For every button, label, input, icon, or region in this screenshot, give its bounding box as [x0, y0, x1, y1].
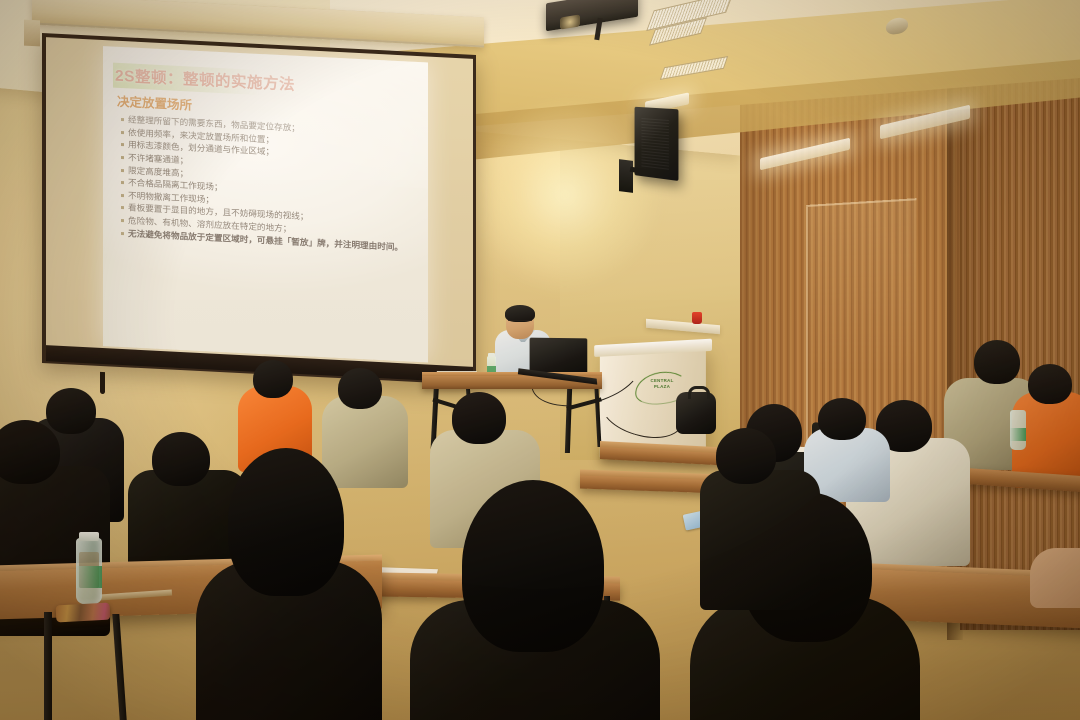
- speaker-grille-icon: [641, 117, 668, 170]
- attendee-head: [818, 398, 866, 440]
- attendee-head: [152, 432, 210, 486]
- attendee-head: [46, 388, 96, 434]
- bullet-dot-icon: [121, 156, 124, 159]
- bullet-dot-icon: [121, 131, 124, 134]
- projected-slide: 2S整顿：整顿的实施方法 决定放置场所 经整理所留下的需要东西，物品要定位存放；…: [103, 46, 428, 362]
- attendee-hair: [462, 480, 604, 652]
- bullet-dot-icon: [121, 118, 124, 121]
- bottle-label: [76, 566, 102, 588]
- bullet-dot-icon: [121, 181, 124, 184]
- attendee-torso: [322, 396, 408, 488]
- podium-logo-line-2: PLAZA: [641, 384, 684, 390]
- desk-leg: [44, 612, 52, 720]
- bullet-dot-icon: [121, 232, 124, 235]
- screen-pull-hook[interactable]: [100, 372, 105, 394]
- slide-content: 2S整顿：整顿的实施方法 决定放置场所 经整理所留下的需要东西，物品要定位存放；…: [103, 46, 428, 362]
- bottle-cap: [488, 353, 495, 357]
- bottle-label: [1010, 428, 1026, 441]
- red-object: [692, 312, 702, 324]
- attendee-head: [338, 368, 382, 409]
- attendee-head: [253, 360, 293, 398]
- classroom-photo: 2S整顿：整顿的实施方法 决定放置场所 经整理所留下的需要东西，物品要定位存放；…: [0, 0, 1080, 720]
- bullet-dot-icon: [121, 194, 124, 197]
- bullet-dot-icon: [121, 219, 124, 222]
- bullet-dot-icon: [121, 169, 124, 172]
- screen-housing-cap: [24, 20, 40, 47]
- attendee-arm: [1030, 548, 1080, 608]
- backpack-handle: [688, 386, 710, 399]
- speaker-bracket: [619, 159, 633, 193]
- attendee-torso: [700, 470, 820, 610]
- pencil-case: [56, 603, 111, 623]
- light-glow: [470, 100, 660, 290]
- slide-bullet-text: 限定高度堆高；: [128, 165, 188, 178]
- attendee-head: [716, 428, 776, 484]
- glasses-icon: [508, 320, 532, 327]
- attendee-head: [974, 340, 1020, 384]
- attendee-hair: [228, 448, 344, 596]
- bottle-cap: [79, 532, 99, 541]
- bullet-dot-icon: [121, 206, 124, 209]
- wood-slat-wall-right: [960, 30, 1080, 630]
- attendee-head: [1028, 364, 1072, 404]
- slide-bullet-text: 不许堵塞通道；: [128, 152, 188, 165]
- attendee-head: [452, 392, 506, 444]
- projection-screen: 2S整顿：整顿的实施方法 决定放置场所 经整理所留下的需要东西，物品要定位存放；…: [46, 37, 473, 381]
- attendee-head: [0, 420, 60, 484]
- bullet-dot-icon: [121, 143, 124, 146]
